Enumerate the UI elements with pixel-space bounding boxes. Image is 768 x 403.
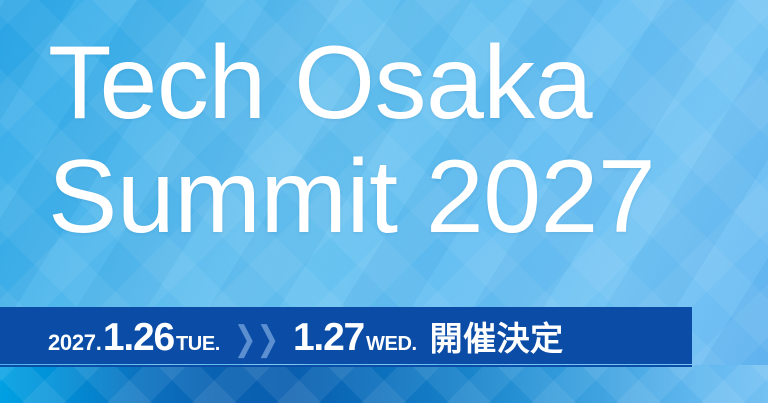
start-date: 1.26 — [103, 316, 174, 360]
event-banner: Tech Osaka Summit 2027 2027 . 1.26 TUE. … — [0, 0, 768, 403]
event-title: Tech Osaka Summit 2027 — [48, 26, 655, 254]
event-year: 2027 — [48, 330, 96, 356]
year-date-separator: . — [96, 330, 102, 356]
date-announcement-bar: 2027 . 1.26 TUE. ❯❯ 1.27 WED. 開催決定 — [0, 307, 692, 364]
end-day-of-week: WED. — [366, 333, 417, 356]
title-line-1: Tech Osaka — [48, 26, 655, 140]
event-status-label: 開催決定 — [430, 312, 564, 360]
end-date: 1.27 — [293, 316, 364, 360]
date-range-chevron-icon: ❯❯ — [234, 319, 280, 359]
date-text-group: 2027 . 1.26 TUE. ❯❯ 1.27 WED. 開催決定 — [48, 312, 564, 360]
bottom-diamond-pattern — [0, 365, 768, 403]
title-line-2: Summit 2027 — [48, 140, 655, 254]
bottom-band-accent-line — [0, 365, 692, 367]
start-day-of-week: TUE. — [176, 333, 220, 356]
bottom-decorative-band — [0, 365, 768, 403]
